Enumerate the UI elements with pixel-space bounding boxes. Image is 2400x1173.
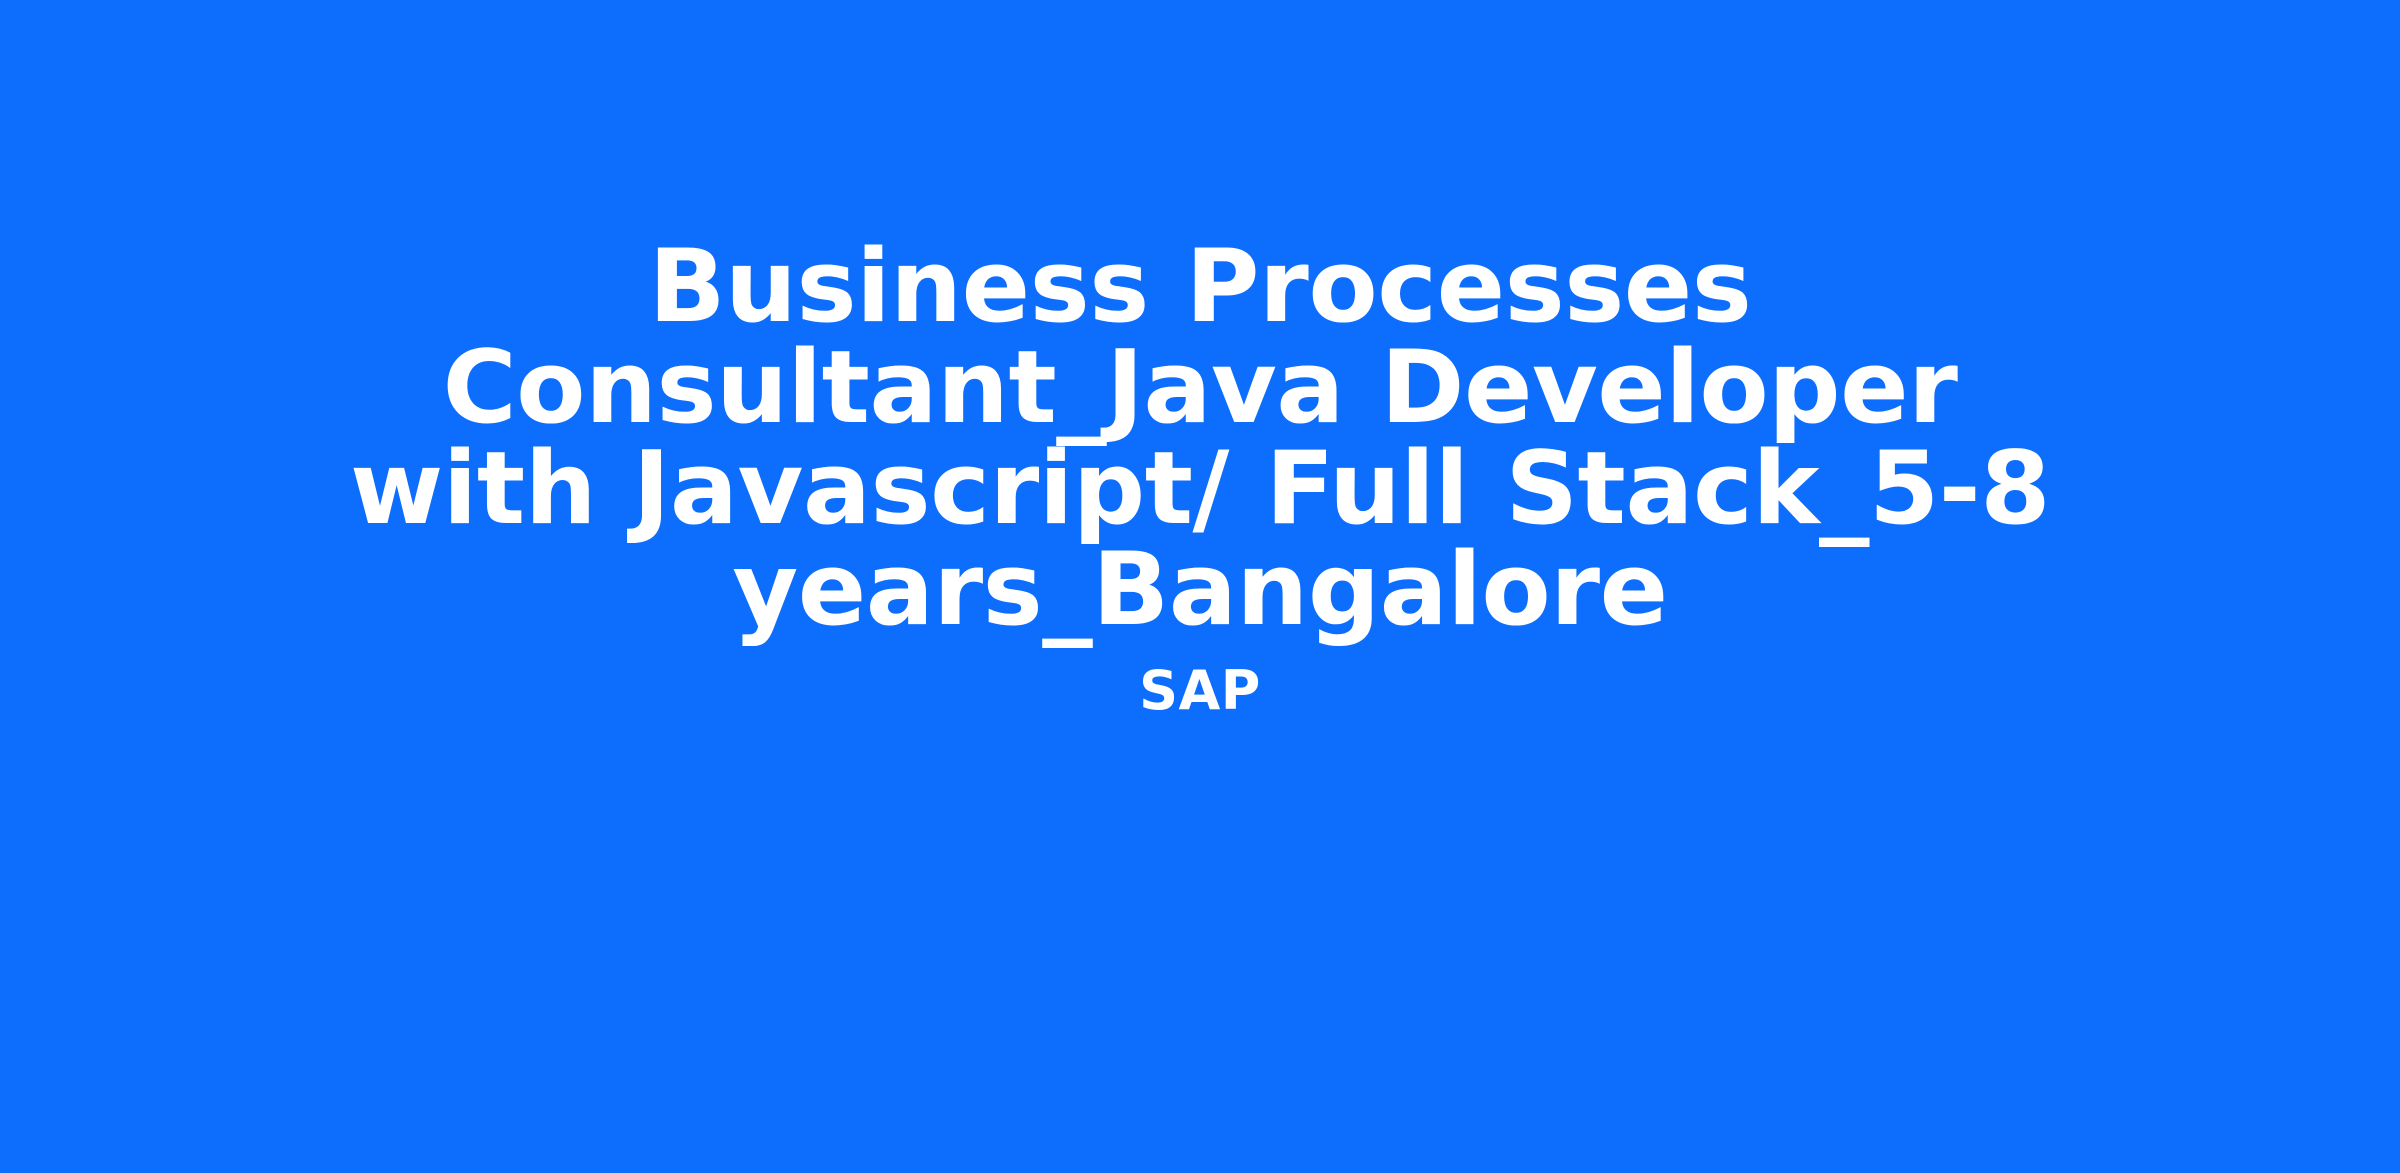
job-posting-card: Business Processes Consultant_Java Devel… (0, 0, 2400, 1173)
job-title: Business Processes Consultant_Java Devel… (350, 236, 2050, 640)
job-card-content: Business Processes Consultant_Java Devel… (350, 236, 2050, 718)
company-name: SAP (350, 664, 2050, 718)
